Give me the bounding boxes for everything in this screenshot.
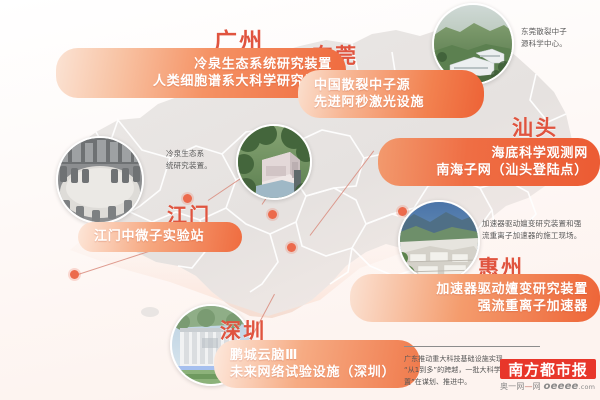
map-dot-huizhou[interactable] [398, 207, 407, 216]
footer-divider [404, 346, 540, 347]
banner-shantou-line-1: 海底科学观测网 [492, 145, 588, 162]
caption-guangzhou-photo: 冷泉生态系 统研究装置。 [166, 148, 212, 171]
website-domain: oeeee [544, 381, 579, 392]
caption-huizhou-photo: 加速器驱动嬗变研究装置和强 流重离子加速器的施工现场。 [482, 218, 581, 241]
map-dot-shenzhen[interactable] [287, 243, 296, 252]
publication-logo: 南方都市报 [500, 359, 596, 379]
caption-dongguan-photo: 东莞散裂中子 源科学中心。 [521, 26, 567, 49]
banner-shantou[interactable]: 海底科学观测网 南海子网（汕头登陆点） [378, 138, 600, 186]
website-cn-name: 奥一网 [500, 382, 524, 391]
map-dot-jiangmen[interactable] [70, 270, 79, 279]
banner-huizhou-line-1: 加速器驱动嬗变研究装置 [436, 281, 588, 298]
banner-jiangmen[interactable]: 江门中微子实验站 [78, 222, 242, 252]
website-tld: .com [579, 383, 596, 391]
banner-shantou-line-2: 南海子网（汕头登陆点） [436, 162, 588, 179]
banner-dongguan-line-1: 中国散裂中子源 [314, 77, 410, 94]
banner-dongguan-line-2: 先进阿秒激光设施 [314, 94, 424, 111]
infographic-poster: 广州 东莞 汕头 江门 惠州 深圳 冷泉生态系统研究装置 人类细胞谱系大科学研究… [0, 0, 600, 400]
banner-dongguan[interactable]: 中国散裂中子源 先进阿秒激光设施 [298, 70, 484, 118]
banner-huizhou[interactable]: 加速器驱动嬗变研究装置 强流重离子加速器 [350, 274, 600, 322]
map-dot-dongguan[interactable] [268, 210, 277, 219]
photo-guangzhou-cold-seep [236, 124, 312, 200]
banner-huizhou-line-2: 强流重离子加速器 [478, 298, 588, 315]
photo-jiangmen-neutrino [56, 136, 144, 224]
banner-shenzhen[interactable]: 鹏城云脑Ⅲ 未来网络试验设施（深圳） [214, 340, 420, 388]
banner-shenzhen-line-2: 未来网络试验设施（深圳） [230, 364, 395, 381]
banner-shenzhen-line-1: 鹏城云脑Ⅲ [230, 347, 298, 364]
photo-huizhou-construction [398, 200, 480, 282]
banner-jiangmen-line-1: 江门中微子实验站 [94, 228, 204, 245]
publication-website[interactable]: 奥一网—网 oeeee.com [500, 381, 595, 392]
website-net: 网 [533, 382, 541, 391]
